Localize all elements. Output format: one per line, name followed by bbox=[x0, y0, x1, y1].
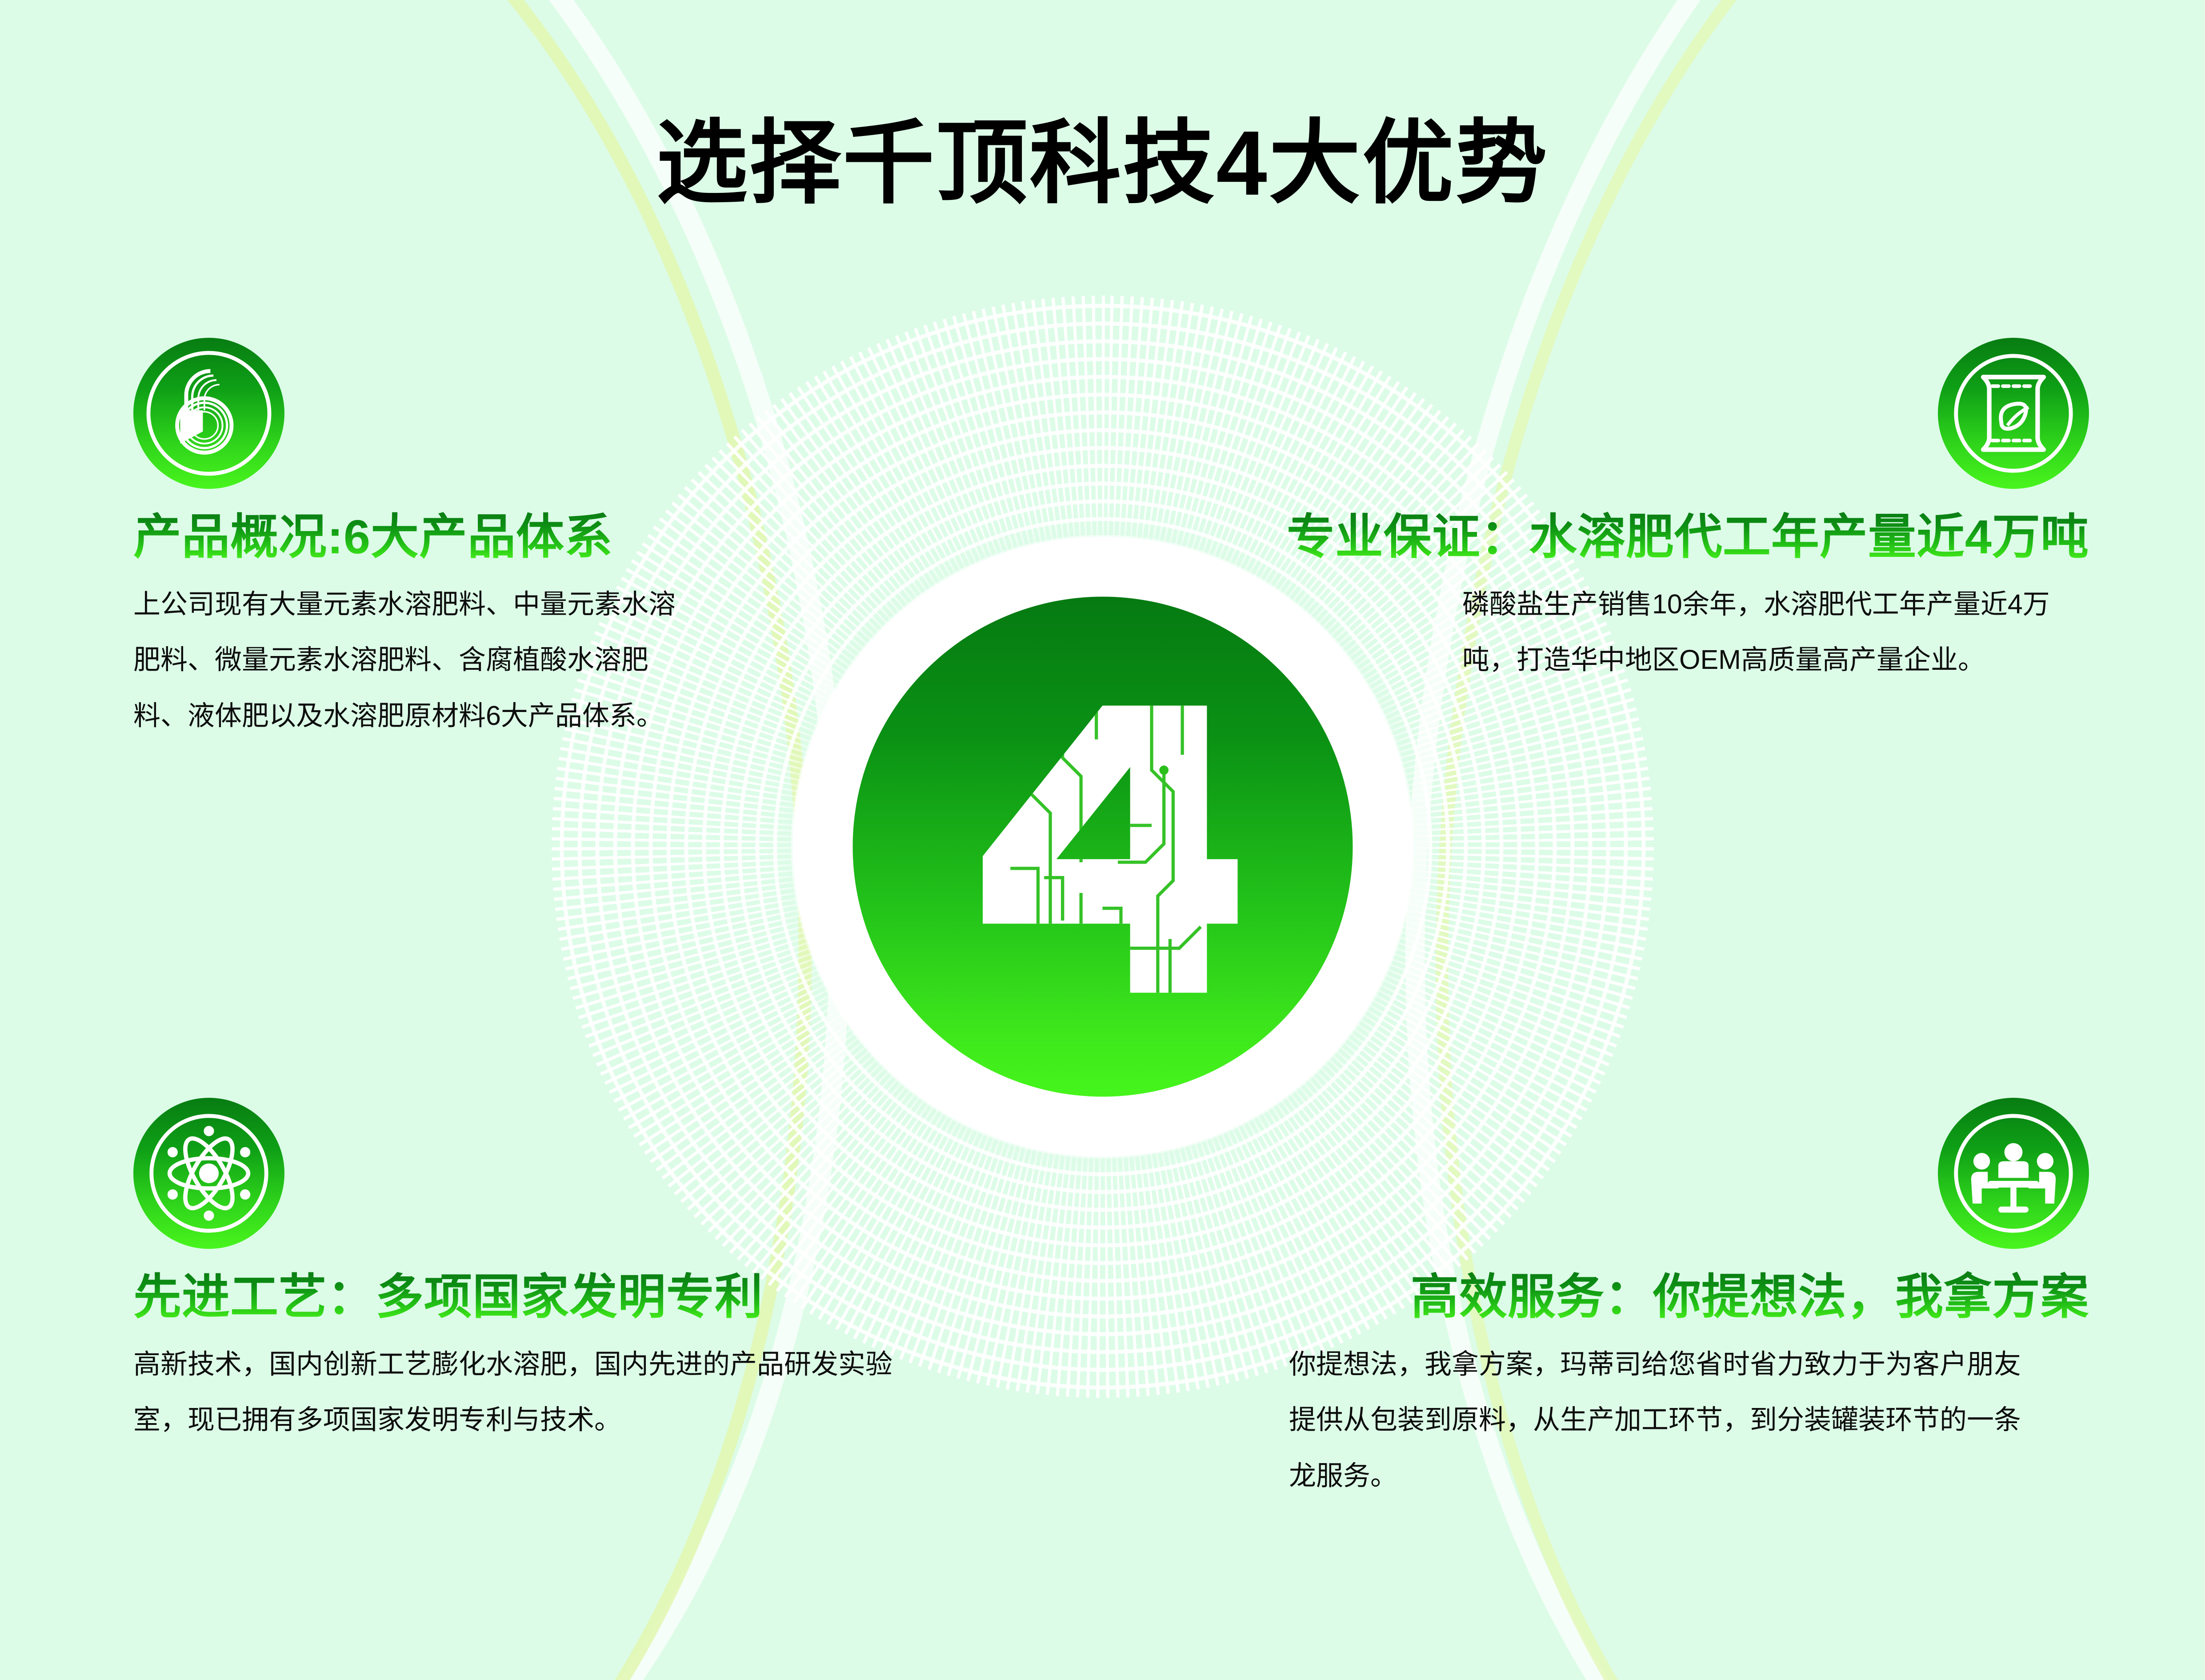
advantage-card-top-right[interactable]: 专业保证：水溶肥代工年产量近4万吨 磷酸盐生产销售10余年，水溶肥代工年产量近4… bbox=[1200, 338, 2089, 688]
atom-icon bbox=[133, 1098, 284, 1249]
advantage-headline: 专业保证：水溶肥代工年产量近4万吨 bbox=[1200, 508, 2089, 565]
meeting-people-glyph bbox=[1938, 1098, 2089, 1249]
advantage-headline: 高效服务：你提想法，我拿方案 bbox=[1289, 1268, 2089, 1325]
advantage-body: 你提想法，我拿方案，玛蒂司给您省时省力致力于为客户朋友提供从包装到原料，从生产加… bbox=[1289, 1336, 2040, 1503]
meeting-people-icon bbox=[1938, 1098, 2089, 1249]
page-title: 选择千顶科技4大优势 bbox=[0, 89, 2205, 221]
number-four-circuit-icon bbox=[947, 678, 1258, 1016]
fertilizer-bag-glyph bbox=[1938, 338, 2089, 489]
advantage-card-bottom-left[interactable]: 先进工艺：多项国家发明专利 高新技术，国内创新工艺膨化水溶肥，国内先进的产品研发… bbox=[133, 1098, 933, 1448]
advantage-card-top-left[interactable]: 产品概况:6大产品体系 上公司现有大量元素水溶肥料、中量元素水溶肥料、微量元素水… bbox=[133, 338, 827, 744]
six-rings-icon bbox=[133, 338, 284, 489]
advantage-body: 高新技术，国内创新工艺膨化水溶肥，国内先进的产品研发实验室，现已拥有多项国家发明… bbox=[133, 1336, 907, 1448]
fertilizer-bag-icon bbox=[1938, 338, 2089, 489]
advantage-body: 上公司现有大量元素水溶肥料、中量元素水溶肥料、微量元素水溶肥料、含腐植酸水溶肥料… bbox=[133, 576, 693, 743]
advantage-headline: 先进工艺：多项国家发明专利 bbox=[133, 1268, 933, 1325]
six-rings-glyph bbox=[133, 338, 284, 489]
atom-glyph bbox=[133, 1098, 284, 1249]
advantage-card-bottom-right[interactable]: 高效服务：你提想法，我拿方案 你提想法，我拿方案，玛蒂司给您省时省力致力于为客户… bbox=[1289, 1098, 2089, 1504]
advantage-headline: 产品概况:6大产品体系 bbox=[133, 508, 827, 565]
advantage-body: 磷酸盐生产销售10余年，水溶肥代工年产量近4万吨，打造华中地区OEM高质量高产量… bbox=[1462, 576, 2089, 688]
